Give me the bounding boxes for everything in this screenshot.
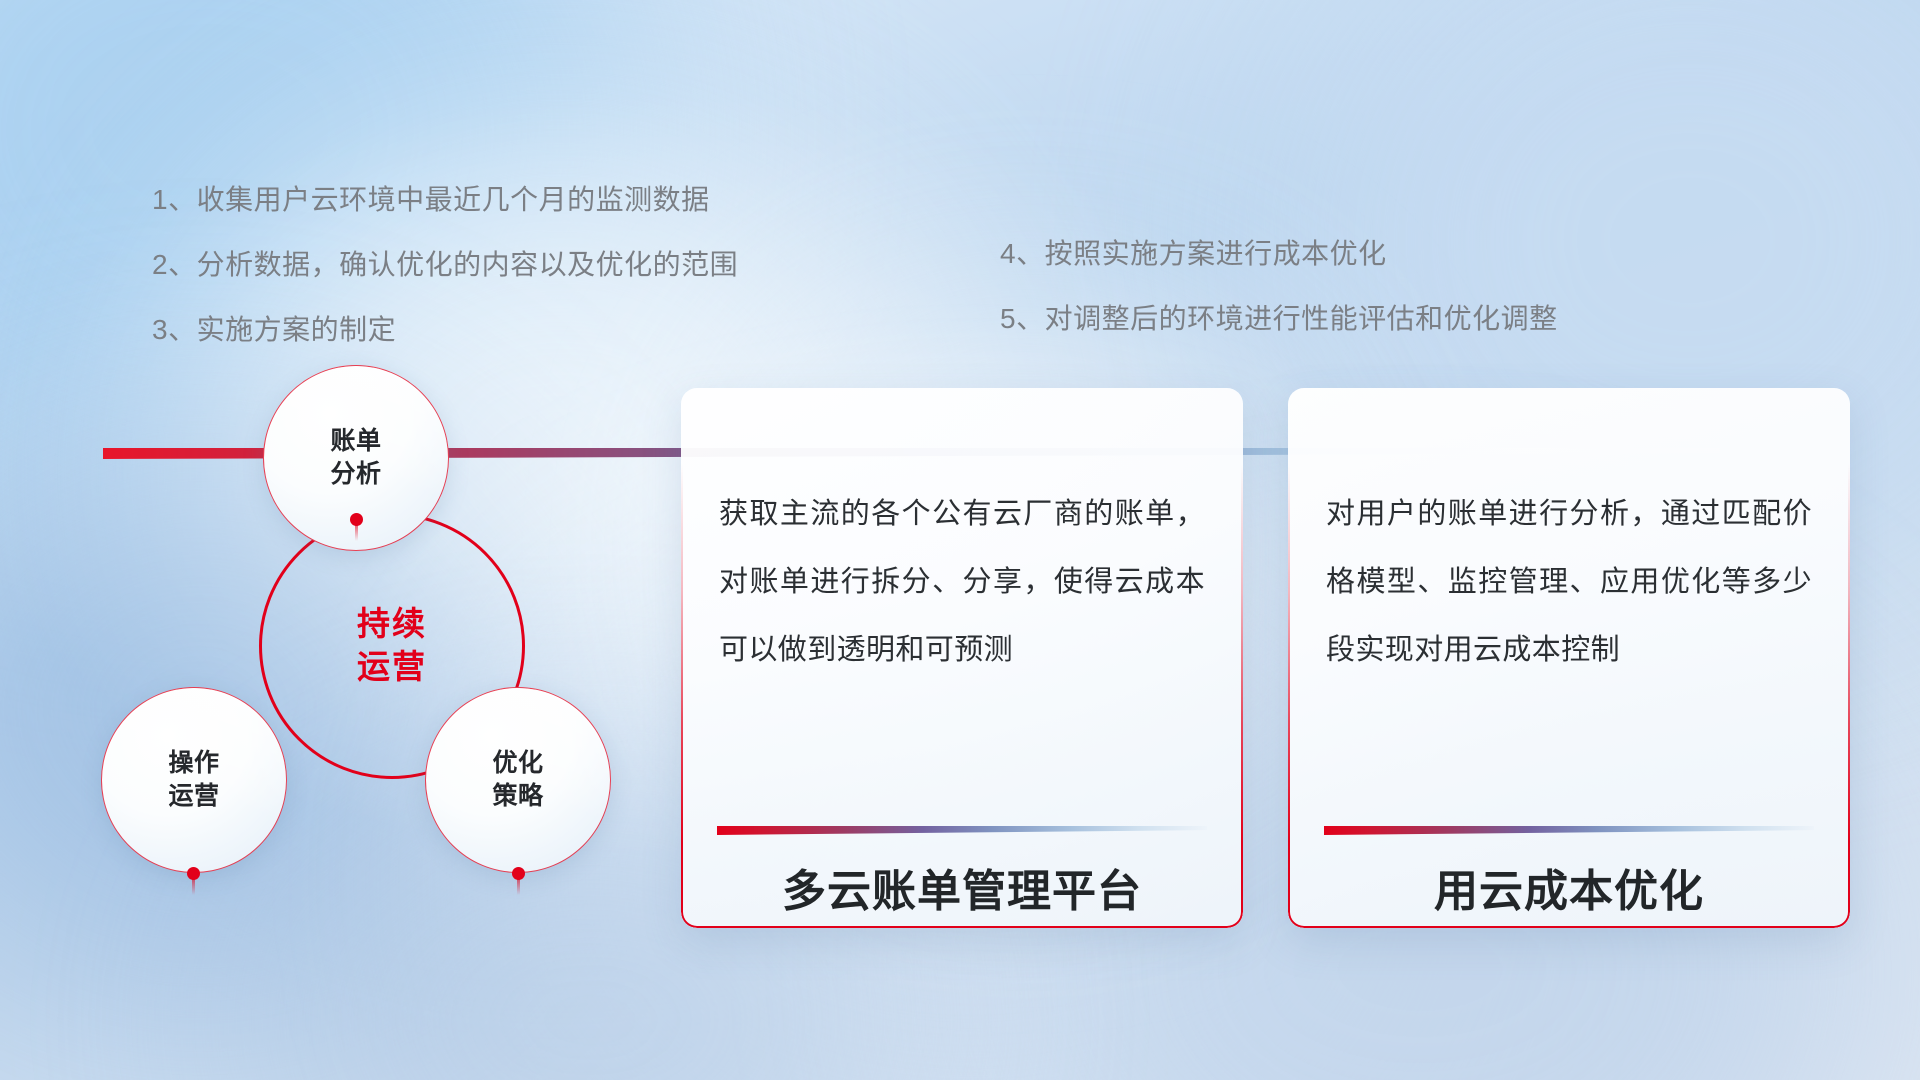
cycle-node-dot-right [512, 867, 525, 880]
card-body-text: 对用户的账单进行分析，通过匹配价格模型、监控管理、应用优化等多少段实现对用云成本… [1326, 480, 1812, 684]
bubble-label-line-2: 策略 [492, 780, 543, 814]
center-label-line-2: 运营 [357, 646, 427, 689]
card-accent-rule [1324, 826, 1814, 835]
step-item-4: 4、按照实施方案进行成本优化 [1000, 240, 1558, 268]
card-title: 多云账单管理平台 [681, 868, 1243, 916]
steps-right-column: 4、按照实施方案进行成本优化 5、对调整后的环境进行性能评估和优化调整 [1000, 240, 1558, 333]
slide-canvas: 1、收集用户云环境中最近几个月的监测数据 2、分析数据，确认优化的内容以及优化的… [0, 0, 1920, 1080]
center-label-line-1: 持续 [357, 603, 427, 646]
card-body-text: 获取主流的各个公有云厂商的账单，对账单进行拆分、分享，使得云成本可以做到透明和可… [719, 480, 1205, 684]
step-item-3: 3、实施方案的制定 [152, 316, 738, 344]
bubble-label-line-1: 操作 [168, 747, 219, 781]
bubble-operation-ops[interactable]: 操作 运营 [101, 687, 287, 873]
step-item-2: 2、分析数据，确认优化的内容以及优化的范围 [152, 251, 738, 279]
card-accent-rule [717, 826, 1207, 835]
bubble-label-line-2: 分析 [330, 458, 381, 492]
bubble-label-line-2: 运营 [168, 780, 219, 814]
card-cloud-cost-optimization[interactable]: 对用户的账单进行分析，通过匹配价格模型、监控管理、应用优化等多少段实现对用云成本… [1288, 388, 1850, 928]
bubble-label-line-1: 优化 [492, 747, 543, 781]
card-title: 用云成本优化 [1288, 868, 1850, 916]
step-item-1: 1、收集用户云环境中最近几个月的监测数据 [152, 186, 738, 214]
step-item-5: 5、对调整后的环境进行性能评估和优化调整 [1000, 305, 1558, 333]
bubble-label-line-1: 账单 [330, 425, 381, 459]
bubble-optimization-policy[interactable]: 优化 策略 [425, 687, 611, 873]
continuous-operation-diagram: 持续 运营 账单 分析 操作 运营 优化 策略 [95, 355, 655, 955]
cycle-node-dot-top [350, 513, 363, 526]
cycle-node-dot-left [187, 867, 200, 880]
card-multi-cloud-billing-platform[interactable]: 获取主流的各个公有云厂商的账单，对账单进行拆分、分享，使得云成本可以做到透明和可… [681, 388, 1243, 928]
steps-left-column: 1、收集用户云环境中最近几个月的监测数据 2、分析数据，确认优化的内容以及优化的… [152, 186, 738, 344]
